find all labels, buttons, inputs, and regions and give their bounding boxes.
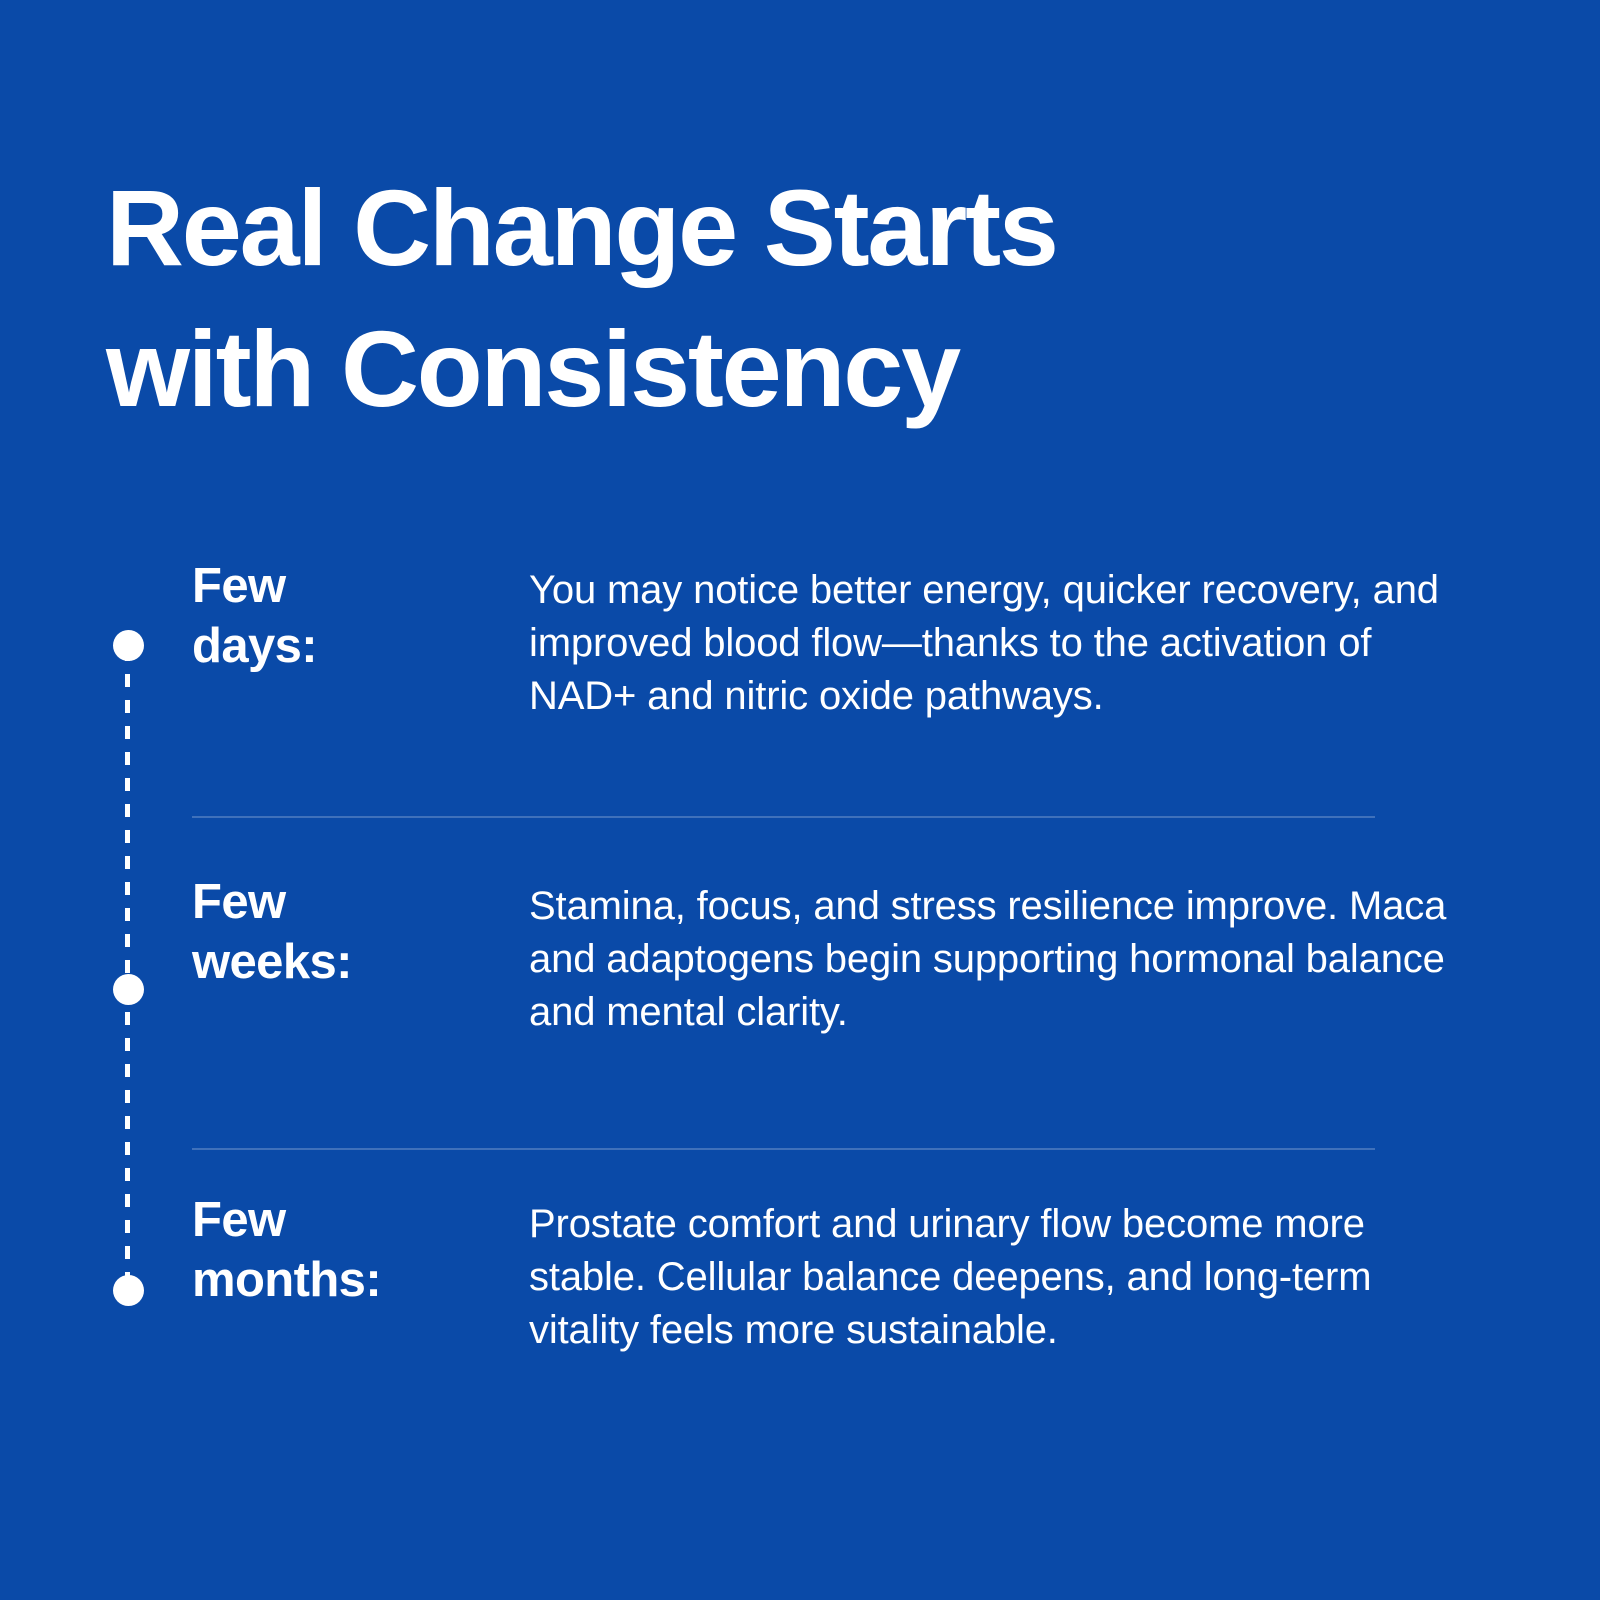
row-divider	[192, 816, 1375, 818]
timeline-step-label: Few weeks:	[192, 872, 512, 993]
timeline-step-description: Prostate comfort and urinary flow become…	[529, 1198, 1459, 1358]
timeline-step-description: Stamina, focus, and stress resilience im…	[529, 880, 1459, 1040]
timeline-dot-icon	[113, 974, 144, 1005]
infographic-page: Real Change Starts with Consistency Few …	[0, 0, 1600, 1600]
timeline-step-description: You may notice better energy, quicker re…	[529, 564, 1459, 724]
timeline-dot-icon	[113, 1275, 144, 1306]
timeline-step-label: Few months:	[192, 1190, 512, 1311]
row-divider	[192, 1148, 1375, 1150]
timeline-step-label: Few days:	[192, 556, 512, 677]
timeline-rail	[119, 630, 135, 1302]
timeline-dot-icon	[113, 630, 144, 661]
page-title: Real Change Starts with Consistency	[106, 158, 1426, 439]
dashed-line-icon	[125, 648, 130, 1286]
